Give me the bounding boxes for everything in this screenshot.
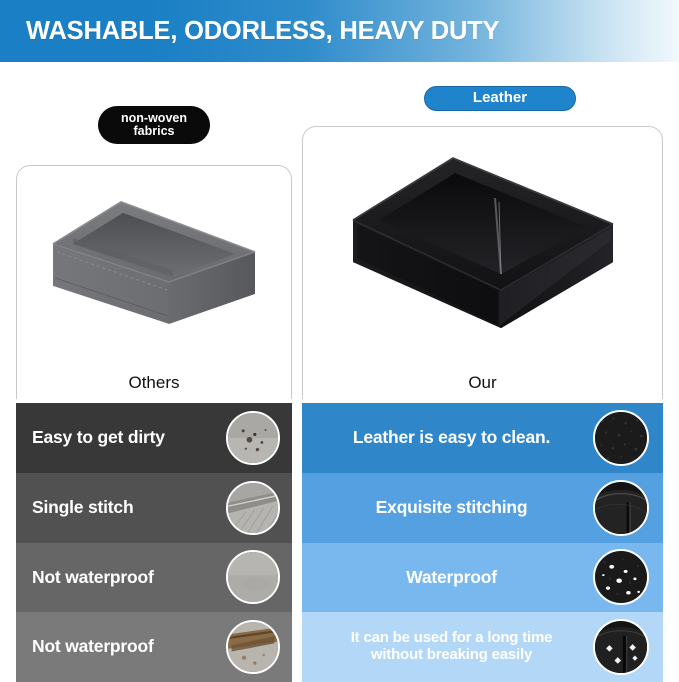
pill-left-line2: fabrics	[134, 124, 175, 138]
comparison-column-ours: Leather is easy to clean. Exquisite stit…	[302, 403, 663, 682]
product-card-our: Our	[302, 126, 663, 399]
comparison-infographic: WASHABLE, ODORLESS, HEAVY DUTY non-woven…	[0, 0, 679, 682]
label-leather: Leather	[424, 86, 576, 111]
comparison-row-ours-2-label: Exquisite stitching	[320, 498, 583, 518]
comparison-row-ours-3-label: Waterproof	[320, 568, 583, 588]
black-leather-storage-bin-icon	[349, 142, 617, 338]
comparison-row-others-1: Easy to get dirty	[16, 403, 292, 473]
comparison-row-others-3: Not waterproof	[16, 543, 292, 613]
water-stained-mold-swatch-icon	[226, 620, 280, 674]
product-image-our-stage	[303, 127, 662, 361]
comparison-column-others: Easy to get dirty Single stitch	[16, 403, 292, 682]
comparison-row-others-2-label: Single stitch	[32, 498, 133, 518]
comparison-row-others-4: Not waterproof	[16, 612, 292, 682]
comparison-row-ours-1-label: Leather is easy to clean.	[320, 428, 583, 448]
comparison-row-others-2: Single stitch	[16, 473, 292, 543]
comparison-row-ours-4-line1: It can be used for a long time	[351, 629, 553, 646]
dirty-fabric-swatch-icon	[226, 411, 280, 465]
leather-stitched-corner-swatch-icon	[593, 480, 649, 536]
header-banner: WASHABLE, ODORLESS, HEAVY DUTY	[0, 0, 679, 62]
comparison-row-ours-4: It can be used for a long time without b…	[302, 612, 663, 682]
single-stitch-seam-swatch-icon	[226, 481, 280, 535]
comparison-row-ours-4-label: It can be used for a long time without b…	[320, 630, 583, 664]
water-beads-on-leather-swatch-icon	[593, 549, 649, 605]
product-card-others: Others	[16, 165, 292, 399]
pill-left-line1: non-woven	[121, 111, 187, 125]
leather-corner-rivets-swatch-icon	[593, 619, 649, 675]
comparison-row-ours-2: Exquisite stitching	[302, 473, 663, 543]
gray-fabric-storage-bin-icon	[49, 181, 259, 333]
comparison-row-ours-4-line2: without breaking easily	[371, 646, 532, 663]
product-caption-others: Others	[17, 373, 291, 393]
black-leather-grain-swatch-icon	[593, 410, 649, 466]
label-non-woven-fabrics: non-woven fabrics	[98, 106, 210, 144]
comparison-row-ours-3: Waterproof	[302, 543, 663, 613]
banner-title: WASHABLE, ODORLESS, HEAVY DUTY	[0, 17, 499, 46]
comparison-row-others-1-label: Easy to get dirty	[32, 428, 165, 448]
comparison-row-ours-1: Leather is easy to clean.	[302, 403, 663, 473]
comparison-row-others-3-label: Not waterproof	[32, 568, 154, 588]
product-image-others-stage	[17, 166, 291, 361]
comparison-row-others-4-label: Not waterproof	[32, 637, 154, 657]
plain-damp-fabric-swatch-icon	[226, 550, 280, 604]
product-caption-our: Our	[303, 373, 662, 393]
